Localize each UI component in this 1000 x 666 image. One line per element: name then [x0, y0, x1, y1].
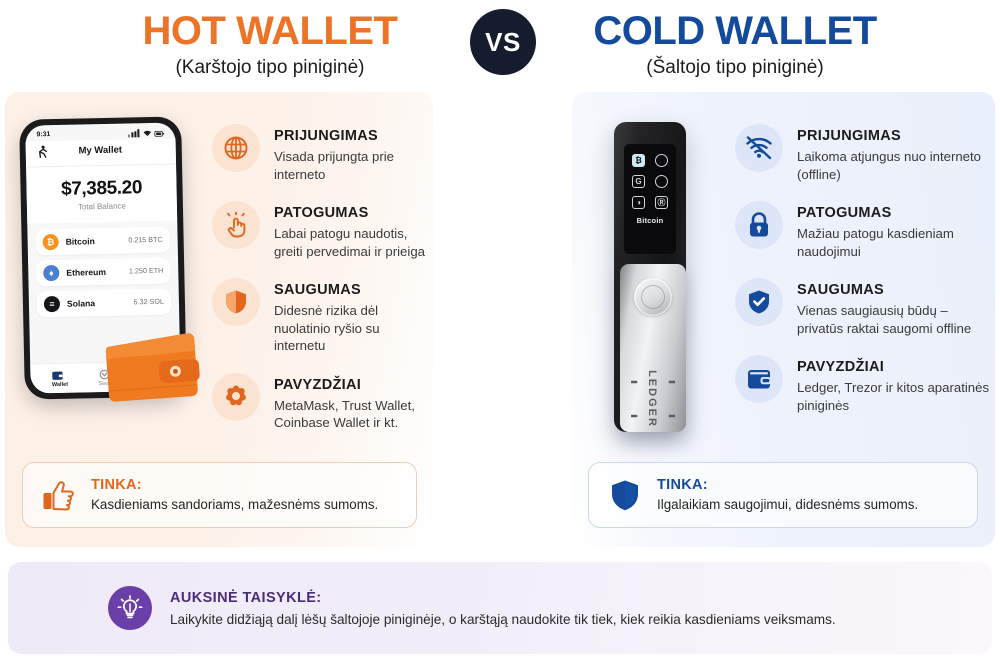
feature-desc: Vienas saugiausių būdų – privatūs raktai… — [797, 302, 993, 337]
feature-cold-convenience: PATOGUMAS Mažiau patogu kasdieniam naudo… — [735, 201, 993, 260]
cold-wallet-subtitle: (Šaltojo tipo piniginė) — [525, 55, 945, 81]
bitcoin-coin-icon: ₿ — [42, 233, 58, 249]
shield-icon — [212, 278, 260, 326]
feature-desc: Visada prijungta prie interneto — [274, 148, 434, 183]
orange-wallet-illustration — [101, 327, 202, 406]
lock-icon — [735, 201, 783, 249]
feature-cold-examples: PAVYZDŽIAI Ledger, Trezor ir kitos apara… — [735, 355, 993, 414]
phone-balance-amount: $7,385.20 — [26, 176, 176, 201]
coin-amount: 5.32 SOL — [133, 297, 164, 307]
cold-wallet-title: COLD WALLET — [525, 8, 945, 54]
golden-rule-banner: AUKSINĖ TAISYKLĖ: Laikykite didžiąją dal… — [8, 562, 992, 654]
coin-amount: 0.215 BTC — [128, 235, 163, 245]
solana-coin-icon: ≡ — [44, 295, 60, 311]
ledger-cell-6: Ⓡ — [655, 196, 668, 209]
shield-solid-icon — [605, 479, 645, 512]
feature-desc: Didesnė rizika dėl nuolatinio ryšio su i… — [274, 302, 434, 355]
feature-title: PAVYZDŽIAI — [797, 358, 993, 376]
phone-balance-label: Total Balance — [27, 200, 177, 212]
ledger-screen: ₿ G ◑ Ⓡ Bitcoin — [624, 144, 676, 254]
feature-cold-connection: PRIJUNGIMAS Laikoma atjungus nuo interne… — [735, 124, 993, 183]
ledger-brand-text: LEDGER — [646, 370, 658, 428]
lightbulb-icon — [108, 586, 152, 630]
feature-desc: Laikoma atjungus nuo interneto (offline) — [797, 148, 993, 183]
list-item[interactable]: ≡ Solana 5.32 SOL — [37, 288, 172, 317]
tinka-title: TINKA: — [91, 476, 378, 495]
gear-icon — [212, 373, 260, 421]
phone-status-time: 9:31 — [36, 131, 50, 138]
tinka-desc: Ilgalaikiam saugojimui, didesnėms sumoms… — [657, 496, 918, 514]
feature-desc: Labai patogu naudotis, greiti pervedimai… — [274, 225, 434, 260]
coin-amount: 1.250 ETH — [129, 266, 164, 276]
ledger-button[interactable] — [634, 278, 672, 316]
phone-nav-wallet[interactable]: Wallet — [51, 369, 68, 387]
hot-wallet-subtitle: (Karštojo tipo piniginė) — [60, 55, 480, 81]
tinka-title: TINKA: — [657, 476, 918, 495]
shield-check-icon — [735, 278, 783, 326]
ledger-steel-cover: LEDGER — [620, 264, 686, 432]
ledger-cell-2 — [655, 154, 668, 167]
phone-app-title: My Wallet — [48, 143, 153, 156]
ledger-device-illustration: ₿ G ◑ Ⓡ Bitcoin LEDGER — [614, 122, 686, 432]
phone-menu-icon[interactable] — [37, 145, 48, 158]
hot-wallet-title: HOT WALLET — [60, 8, 480, 54]
hot-tinka-box: TINKA: Kasdieniams sandoriams, mažesnėms… — [22, 462, 417, 528]
vs-label: VS — [485, 27, 521, 58]
wallet-icon — [735, 355, 783, 403]
feature-hot-security: SAUGUMAS Didesnė rizika dėl nuolatinio r… — [212, 278, 434, 355]
feature-desc: Ledger, Trezor ir kitos aparatinės pinig… — [797, 379, 993, 414]
feature-hot-examples: PAVYZDŽIAI MetaMask, Trust Wallet, Coinb… — [212, 373, 434, 432]
cold-tinka-box: TINKA: Ilgalaikiam saugojimui, didesnėms… — [588, 462, 978, 528]
hot-feature-list: PRIJUNGIMAS Visada prijungta prie intern… — [212, 124, 434, 432]
ledger-brand-logo: LEDGER — [631, 360, 675, 438]
feature-desc: Mažiau patogu kasdieniam naudojimui — [797, 225, 993, 260]
golden-rule-text: AUKSINĖ TAISYKLĖ: Laikykite didžiąją dal… — [170, 588, 836, 629]
cold-feature-list: PRIJUNGIMAS Laikoma atjungus nuo interne… — [735, 124, 993, 414]
golden-rule-desc: Laikykite didžiąją dalį lėšų šaltojoje p… — [170, 610, 836, 629]
ledger-cell-3: G — [632, 175, 645, 188]
phone-coin-list: ₿ Bitcoin 0.215 BTC ♦ Ethereum 1.250 ETH… — [27, 220, 179, 317]
globe-icon — [212, 124, 260, 172]
ledger-screen-label: Bitcoin — [630, 216, 670, 225]
feature-hot-connection: PRIJUNGIMAS Visada prijungta prie intern… — [212, 124, 434, 183]
feature-hot-convenience: PATOGUMAS Labai patogu naudotis, greiti … — [212, 201, 434, 260]
wallet-nav-icon — [51, 369, 63, 380]
ledger-cell-4 — [655, 175, 668, 188]
ledger-cell-bitcoin: ₿ — [632, 154, 645, 167]
phone-signal-icon — [128, 129, 164, 137]
coin-name: Bitcoin — [66, 235, 129, 246]
feature-title: PATOGUMAS — [274, 204, 434, 222]
infographic-root: HOT WALLET (Karštojo tipo piniginė) VS C… — [0, 0, 1000, 666]
list-item[interactable]: ♦ Ethereum 1.250 ETH — [36, 257, 171, 286]
tap-hand-icon — [212, 201, 260, 249]
tinka-desc: Kasdieniams sandoriams, mažesnėms sumoms… — [91, 496, 378, 514]
feature-title: SAUGUMAS — [797, 281, 993, 299]
phone-nav-label: Wallet — [52, 381, 68, 387]
hot-wallet-header: HOT WALLET (Karštojo tipo piniginė) — [60, 8, 480, 81]
feature-title: SAUGUMAS — [274, 281, 434, 299]
ledger-cell-5: ◑ — [632, 196, 645, 209]
golden-rule-title: AUKSINĖ TAISYKLĖ: — [170, 588, 836, 608]
ledger-app-grid: ₿ G ◑ Ⓡ — [630, 154, 670, 209]
cold-wallet-header: COLD WALLET (Šaltojo tipo piniginė) — [525, 8, 945, 81]
wifi-off-icon — [735, 124, 783, 172]
coin-name: Solana — [67, 297, 134, 308]
feature-desc: MetaMask, Trust Wallet, Coinbase Wallet … — [274, 397, 434, 432]
feature-title: PATOGUMAS — [797, 204, 993, 222]
list-item[interactable]: ₿ Bitcoin 0.215 BTC — [35, 226, 170, 255]
feature-title: PRIJUNGIMAS — [274, 127, 434, 145]
phone-top-bar: My Wallet — [26, 138, 177, 167]
ethereum-coin-icon: ♦ — [43, 264, 59, 280]
coin-name: Ethereum — [66, 266, 129, 277]
thumbs-up-icon — [39, 479, 79, 511]
feature-cold-security: SAUGUMAS Vienas saugiausių būdų – privat… — [735, 278, 993, 337]
feature-title: PRIJUNGIMAS — [797, 127, 993, 145]
phone-balance-block: $7,385.20 Total Balance — [26, 164, 177, 223]
feature-title: PAVYZDŽIAI — [274, 376, 434, 394]
